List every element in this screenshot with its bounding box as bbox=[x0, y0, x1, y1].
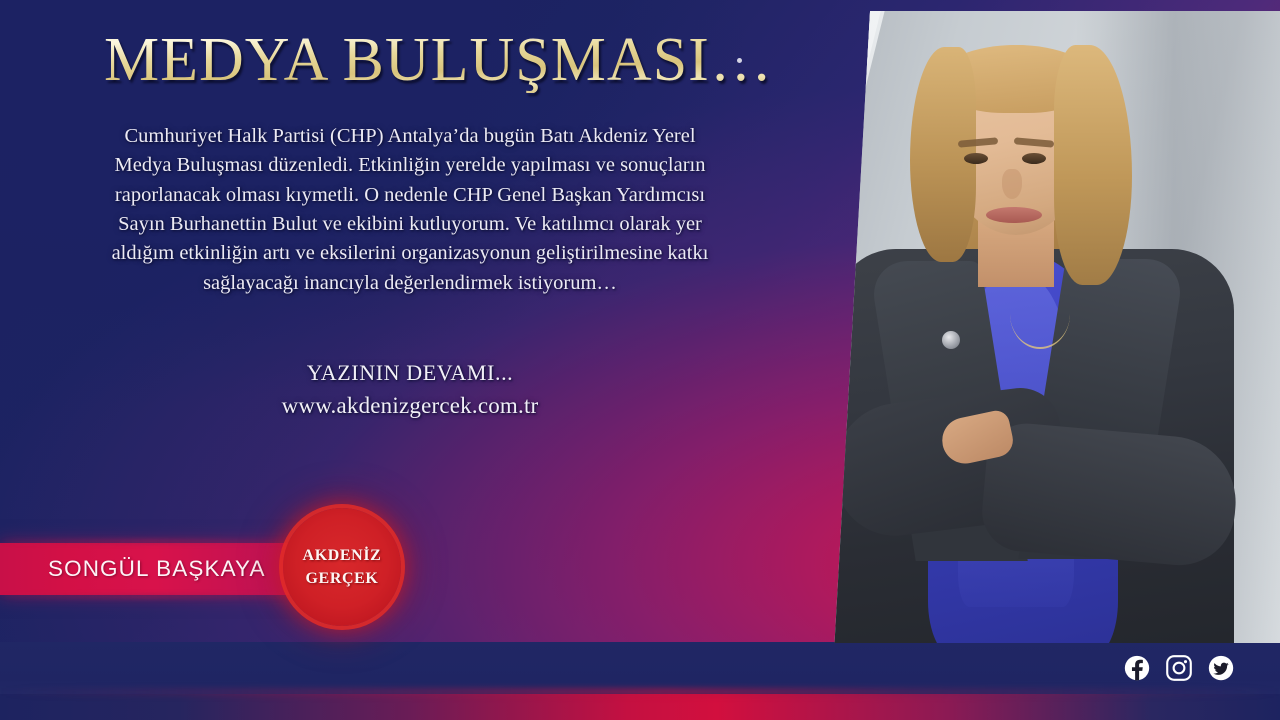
promo-card: MEDYA BULUŞMASI… Cumhuriyet Halk Partisi… bbox=[0, 0, 1280, 720]
portrait-lapel-pin bbox=[942, 331, 960, 349]
website-link[interactable]: www.akdenizgercek.com.tr bbox=[100, 390, 720, 422]
facebook-icon[interactable] bbox=[1124, 655, 1150, 681]
portrait-mouth bbox=[986, 207, 1042, 223]
logo-badge[interactable]: AKDENİZ GERÇEK bbox=[283, 508, 401, 626]
author-name: SONGÜL BAŞKAYA bbox=[48, 556, 266, 582]
portrait-eye-left bbox=[964, 153, 988, 164]
logo-badge-line1: AKDENİZ bbox=[303, 544, 382, 567]
portrait-nose bbox=[1002, 169, 1022, 199]
continue-reading-label: YAZININ DEVAMI... bbox=[100, 358, 720, 388]
author-banner: SONGÜL BAŞKAYA bbox=[0, 543, 300, 595]
bottom-accent-strip bbox=[0, 694, 1280, 720]
social-links bbox=[1124, 655, 1234, 681]
portrait-necklace bbox=[1010, 279, 1070, 349]
page-title: MEDYA BULUŞMASI… bbox=[104, 28, 773, 93]
instagram-icon[interactable] bbox=[1166, 655, 1192, 681]
twitter-icon[interactable] bbox=[1208, 655, 1234, 681]
article-body: Cumhuriyet Halk Partisi (CHP) Antalya’da… bbox=[100, 122, 720, 298]
continue-reading-block: YAZININ DEVAMI... www.akdenizgercek.com.… bbox=[100, 358, 720, 422]
logo-badge-line2: GERÇEK bbox=[306, 567, 379, 590]
portrait-eye-right bbox=[1022, 153, 1046, 164]
